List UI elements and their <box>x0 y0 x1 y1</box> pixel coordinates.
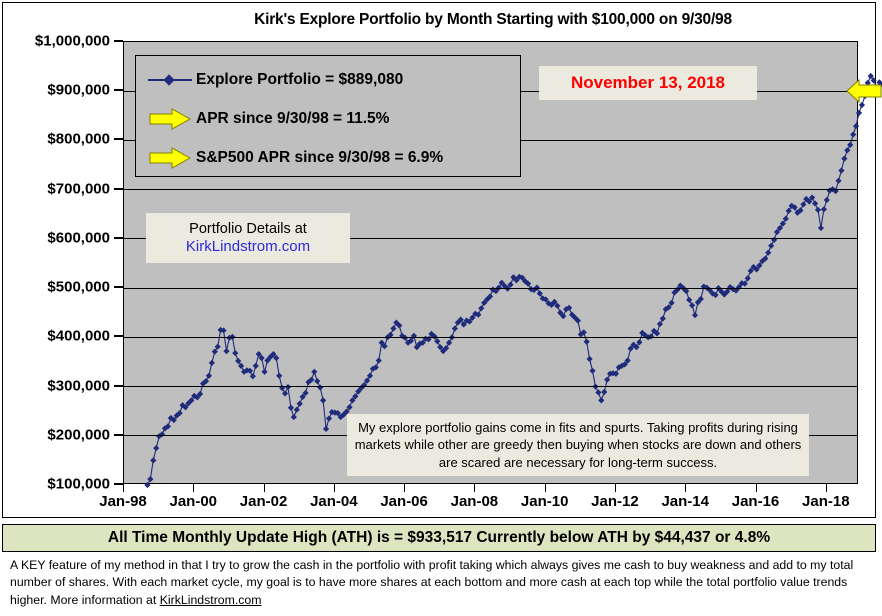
portfolio-details-box: Portfolio Details at KirkLindstrom.com <box>146 213 350 263</box>
data-point-marker <box>841 156 847 162</box>
y-axis-tick <box>114 286 123 288</box>
data-point-marker <box>844 147 850 153</box>
y-axis-label: $500,000 <box>47 279 110 296</box>
y-axis-tick <box>114 335 123 337</box>
data-point-marker <box>212 349 218 355</box>
legend-row-apr: APR since 9/30/98 = 11.5% <box>136 99 520 138</box>
footer-note-body: A KEY feature of my method in that I try… <box>10 558 853 607</box>
data-point-marker <box>595 389 601 395</box>
x-axis-tick <box>685 484 686 492</box>
gridline <box>124 189 857 190</box>
data-point-marker <box>835 178 841 184</box>
x-axis-label: Jan-10 <box>521 493 569 510</box>
footer-note-text: A KEY feature of my method in that I try… <box>10 557 868 609</box>
gridline <box>124 386 857 387</box>
x-axis-tick <box>404 484 405 492</box>
x-axis-label: Jan-04 <box>310 493 358 510</box>
data-point-marker <box>276 373 282 379</box>
data-point-marker <box>235 358 241 364</box>
data-point-marker <box>250 373 256 379</box>
data-point-marker <box>847 142 853 148</box>
data-point-marker <box>745 275 751 281</box>
data-point-marker <box>821 206 827 212</box>
x-axis-tick <box>474 484 475 492</box>
footer-link[interactable]: KirkLindstrom.com <box>160 593 262 607</box>
data-point-marker <box>147 476 153 482</box>
data-point-marker <box>253 363 259 369</box>
data-point-marker <box>323 426 329 432</box>
x-axis-tick <box>545 484 546 492</box>
yellow-right-arrow-icon <box>148 107 192 131</box>
chart-frame: Kirk's Explore Portfolio by Month Starti… <box>2 2 876 518</box>
data-point-marker <box>636 339 642 345</box>
gridline <box>124 337 857 338</box>
data-point-marker <box>765 250 771 256</box>
legend-series-label: Explore Portfolio = $889,080 <box>196 71 403 89</box>
data-point-marker <box>815 207 821 213</box>
page-title: Kirk's Explore Portfolio by Month Starti… <box>123 11 863 29</box>
data-point-marker <box>657 321 663 327</box>
ath-band-text: All Time Monthly Update High (ATH) is = … <box>108 529 770 547</box>
data-point-marker <box>689 302 695 308</box>
data-point-marker <box>783 216 789 222</box>
x-axis-label: Jan-14 <box>661 493 709 510</box>
data-point-marker <box>238 363 244 369</box>
data-point-marker <box>376 357 382 363</box>
data-point-marker <box>288 405 294 411</box>
commentary-text: My explore portfolio gains come in fits … <box>353 419 803 471</box>
y-axis-label: $200,000 <box>47 426 110 443</box>
data-point-marker <box>209 360 215 366</box>
data-point-marker <box>314 378 320 384</box>
data-point-marker <box>856 110 862 116</box>
yellow-right-arrow-icon-2 <box>148 146 192 170</box>
chart-page: Kirk's Explore Portfolio by Month Starti… <box>0 0 882 616</box>
date-badge-text: November 13, 2018 <box>571 73 725 93</box>
data-point-marker <box>297 401 303 407</box>
x-axis-label: Jan-16 <box>732 493 780 510</box>
data-point-marker <box>604 377 610 383</box>
data-point-marker <box>818 225 824 231</box>
date-badge: November 13, 2018 <box>539 66 757 100</box>
y-axis-tick <box>114 237 123 239</box>
x-axis-label: Jan-08 <box>451 493 499 510</box>
diamond-line-marker-icon <box>148 74 192 86</box>
data-point-marker <box>768 243 774 249</box>
data-point-marker <box>150 457 156 463</box>
y-axis-label: $600,000 <box>47 229 110 246</box>
data-point-marker <box>294 407 300 413</box>
legend-sp500-label: S&P500 APR since 9/30/98 = 6.9% <box>196 149 443 167</box>
y-axis-tick <box>114 138 123 140</box>
ath-band: All Time Monthly Update High (ATH) is = … <box>2 524 876 552</box>
x-axis-label: Jan-02 <box>240 493 288 510</box>
data-point-marker <box>478 305 484 311</box>
x-axis-tick <box>826 484 827 492</box>
data-point-marker <box>206 373 212 379</box>
x-axis-tick <box>615 484 616 492</box>
data-point-marker <box>601 389 607 395</box>
yellow-left-arrow-icon <box>846 78 882 104</box>
data-point-marker <box>446 340 452 346</box>
data-point-marker <box>786 208 792 214</box>
x-axis-tick <box>123 484 124 492</box>
data-point-marker <box>261 369 267 375</box>
data-point-marker <box>326 415 332 421</box>
legend-apr-label: APR since 9/30/98 = 11.5% <box>196 110 389 128</box>
y-axis-label: $1,000,000 <box>35 33 110 50</box>
x-axis-label: Jan-18 <box>802 493 850 510</box>
x-axis-label: Jan-00 <box>170 493 218 510</box>
legend-row-sp500: S&P500 APR since 9/30/98 = 6.9% <box>136 138 520 177</box>
y-axis-label: $700,000 <box>47 180 110 197</box>
data-point-marker <box>598 397 604 403</box>
y-axis-tick <box>114 483 123 485</box>
x-axis-label: Jan-06 <box>380 493 428 510</box>
footer-note: A KEY feature of my method in that I try… <box>2 553 876 613</box>
y-axis-label: $800,000 <box>47 131 110 148</box>
y-axis-tick <box>114 434 123 436</box>
details-line-1: Portfolio Details at <box>189 221 307 238</box>
data-point-marker <box>291 414 297 420</box>
data-point-marker <box>232 350 238 356</box>
data-point-marker <box>153 445 159 451</box>
data-point-marker <box>586 356 592 362</box>
data-point-marker <box>434 338 440 344</box>
commentary-box: My explore portfolio gains come in fits … <box>347 414 809 476</box>
x-axis-tick <box>193 484 194 492</box>
gridline <box>124 288 857 289</box>
data-point-marker <box>223 348 229 354</box>
data-point-marker <box>452 325 458 331</box>
y-axis-tick <box>114 385 123 387</box>
x-axis-tick <box>334 484 335 492</box>
x-axis-label: Jan-12 <box>591 493 639 510</box>
data-point-marker <box>824 197 830 203</box>
data-point-marker <box>686 297 692 303</box>
legend: Explore Portfolio = $889,080 APR since 9… <box>135 55 521 177</box>
y-axis-label: $300,000 <box>47 377 110 394</box>
x-axis-tick <box>264 484 265 492</box>
data-point-marker <box>692 312 698 318</box>
data-point-marker <box>853 123 859 129</box>
data-point-marker <box>537 290 543 296</box>
data-point-marker <box>660 316 666 322</box>
data-point-marker <box>367 373 373 379</box>
details-link[interactable]: KirkLindstrom.com <box>186 238 310 255</box>
data-point-marker <box>589 368 595 374</box>
data-point-marker <box>584 339 590 345</box>
x-axis-label: Jan-98 <box>99 493 147 510</box>
data-point-marker <box>800 201 806 207</box>
data-point-marker <box>838 167 844 173</box>
data-point-marker <box>282 390 288 396</box>
data-point-marker <box>812 200 818 206</box>
data-point-marker <box>144 482 150 488</box>
data-point-marker <box>390 325 396 331</box>
legend-row-series: Explore Portfolio = $889,080 <box>136 60 520 99</box>
y-axis-label: $100,000 <box>47 476 110 493</box>
data-point-marker <box>320 397 326 403</box>
data-point-marker <box>311 369 317 375</box>
data-point-marker <box>285 384 291 390</box>
y-axis-label: $400,000 <box>47 328 110 345</box>
y-axis-tick <box>114 188 123 190</box>
data-point-marker <box>850 131 856 137</box>
y-axis: $1,000,000$900,000$800,000$700,000$600,0… <box>3 3 123 522</box>
y-axis-tick <box>114 89 123 91</box>
y-axis-label: $900,000 <box>47 82 110 99</box>
data-point-marker <box>215 344 221 350</box>
y-axis-tick <box>114 40 123 42</box>
x-axis-tick <box>756 484 757 492</box>
